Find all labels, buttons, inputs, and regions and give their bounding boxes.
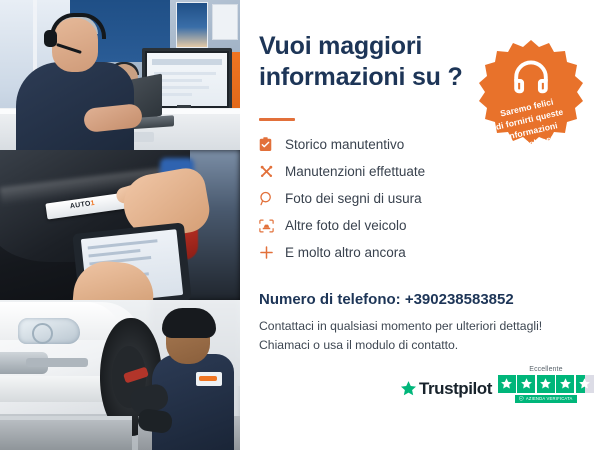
headlight-ring: [32, 323, 53, 344]
call-center-agent-photo: [0, 0, 240, 150]
trustpilot-wordmark: Trustpilot: [419, 379, 492, 399]
verified-badge: AZIENDA VERIFICATA: [515, 395, 576, 403]
star-rating: [498, 375, 594, 393]
headline-line-1: Vuoi maggiori: [259, 32, 422, 60]
list-item: Foto dei segni di usura: [259, 185, 579, 212]
verified-label: AZIENDA VERIFICATA: [526, 396, 573, 401]
mechanic-wheel-photo: [0, 300, 240, 450]
scan-car-icon: [259, 215, 285, 237]
headline-line-2: informazioni su ?: [259, 62, 474, 93]
starburst-shape: [479, 40, 583, 144]
contact-instructions: Contattaci in qualsiasi momento per ulte…: [259, 317, 589, 354]
clipboard-check-icon: [259, 134, 285, 156]
list-item: Manutenzioni effettuate: [259, 158, 579, 185]
badge-logo: [199, 376, 217, 381]
car-bumper: [0, 376, 116, 402]
phone-number-label[interactable]: Numero di telefono: +390238583852: [259, 291, 514, 308]
lift-platform: [0, 420, 132, 450]
star-half: [576, 375, 594, 393]
page-title: Vuoi maggiori informazioni su ?: [259, 31, 474, 92]
ruler-brand-text: AUTO1: [70, 200, 96, 210]
mechanic-hair: [162, 308, 216, 338]
screen-row: [154, 86, 209, 89]
headset-earcup: [44, 30, 57, 47]
rating-label: Eccellente: [529, 366, 562, 373]
feature-label: Altre foto del veicolo: [285, 218, 407, 233]
tablet-row: [88, 239, 158, 249]
magnifier-icon: [259, 188, 285, 210]
mechanic-uniform-badge: [196, 372, 222, 386]
car-headlight: [18, 318, 80, 344]
car-inspection-tablet-photo: AUTO1: [0, 150, 240, 300]
feature-label: Storico manutentivo: [285, 137, 404, 152]
trustpilot-logo: Trustpilot: [400, 379, 492, 403]
wall-poster-secondary: [212, 4, 238, 40]
feature-label: Foto dei segni di usura: [285, 191, 422, 206]
star-filled: [517, 375, 535, 393]
trustpilot-star-icon: [400, 380, 417, 397]
content-panel: Vuoi maggiori informazioni su ? Saremo f…: [240, 0, 600, 450]
feature-list: Storico manutentivo Manutenzi: [259, 131, 579, 266]
accent-divider: [259, 118, 295, 121]
contact-line-1: Contattaci in qualsiasi momento per ulte…: [259, 317, 589, 336]
star-filled: [556, 375, 574, 393]
list-item: E molto altro ancora: [259, 239, 579, 266]
star-filled: [537, 375, 555, 393]
wrench-cross-icon: [259, 161, 285, 183]
wall-poster: [176, 2, 208, 48]
tablet-row: [88, 249, 140, 257]
star-filled: [498, 375, 516, 393]
contact-line-2: Chiamaci o usa il modulo di contatto.: [259, 336, 589, 355]
feature-label: Manutenzioni effettuate: [285, 164, 425, 179]
screen-row: [154, 72, 216, 75]
feature-label: E molto altro ancora: [285, 245, 406, 260]
plus-icon: [259, 242, 285, 264]
list-item: Storico manutentivo: [259, 131, 579, 158]
photo-strip: AUTO1: [0, 0, 240, 450]
promo-banner: AUTO1: [0, 0, 600, 450]
check-circle-icon: [519, 396, 524, 401]
screen-toolbar: [152, 59, 222, 65]
bumper-vent: [26, 358, 88, 367]
trustpilot-rating: Eccellente: [498, 366, 594, 403]
list-item: Altre foto del veicolo: [259, 212, 579, 239]
trustpilot-widget[interactable]: Trustpilot Eccellente: [400, 366, 594, 403]
